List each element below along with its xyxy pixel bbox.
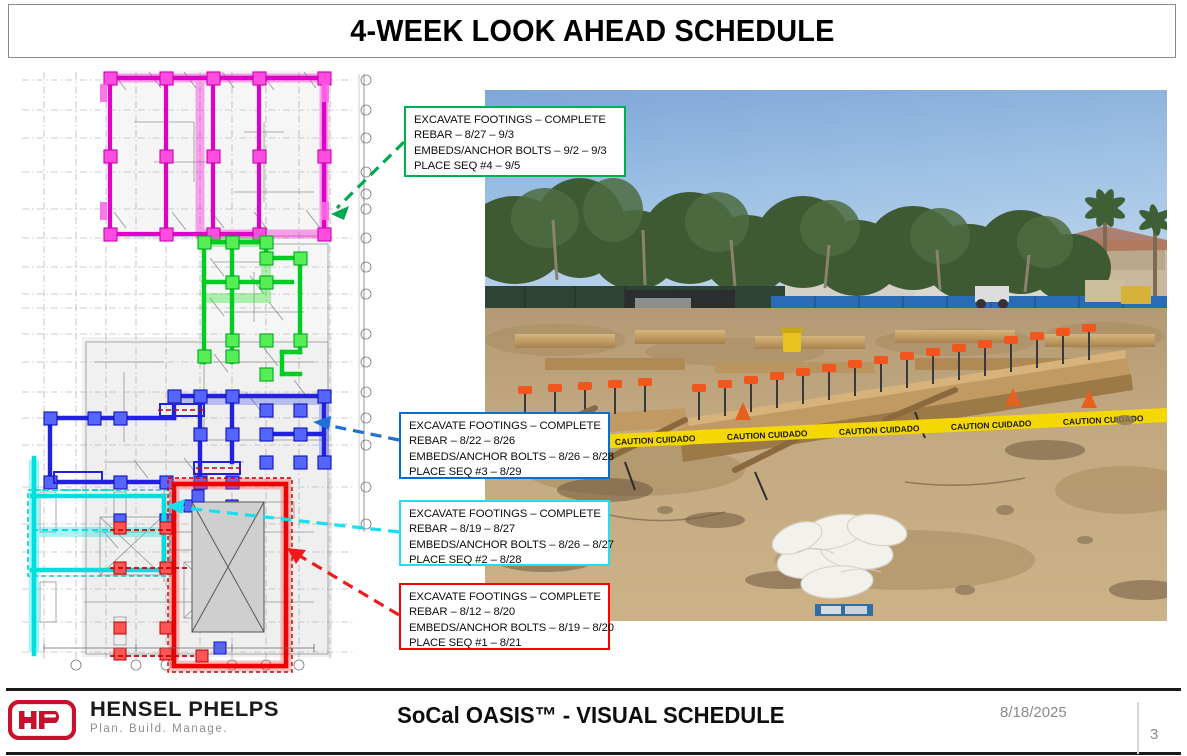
callout-line: EXCAVATE FOOTINGS – COMPLETE: [409, 590, 601, 605]
callout-line: EMBEDS/ANCHOR BOLTS – 8/26 – 8/28: [409, 450, 601, 465]
callout-line: EXCAVATE FOOTINGS – COMPLETE: [414, 113, 617, 128]
hp-monogram-icon: [8, 700, 76, 740]
logo-tagline: Plan. Build. Manage.: [90, 721, 275, 737]
callout-line: PLACE SEQ #3 – 8/29: [409, 465, 601, 480]
callout-line: PLACE SEQ #4 – 9/5: [414, 159, 617, 174]
callout-seq4-green[interactable]: EXCAVATE FOOTINGS – COMPLETE REBAR – 8/2…: [404, 106, 626, 177]
slide-canvas: 4-WEEK LOOK AHEAD SCHEDULE: [0, 0, 1187, 756]
floor-plan-drawing[interactable]: [14, 62, 414, 676]
logo-company-name: HENSEL PHELPS: [90, 697, 279, 721]
footer-project-title: SoCal OASIS™ - VISUAL SCHEDULE: [370, 702, 812, 729]
callout-seq1-red[interactable]: EXCAVATE FOOTINGS – COMPLETE REBAR – 8/1…: [399, 583, 610, 650]
hensel-phelps-logo[interactable]: HENSEL PHELPS Plan. Build. Manage.: [8, 697, 328, 745]
footer-top-rule: [6, 688, 1181, 691]
callout-line: REBAR – 8/22 – 8/26: [409, 434, 601, 449]
logo-wordmark: HENSEL PHELPS Plan. Build. Manage.: [90, 697, 275, 737]
footer-date: 8/18/2025: [1000, 704, 1067, 721]
callout-line: REBAR – 8/19 – 8/27: [409, 522, 601, 537]
callout-seq2-cyan[interactable]: EXCAVATE FOOTINGS – COMPLETE REBAR – 8/1…: [399, 500, 610, 566]
footer-divider: [1137, 702, 1139, 754]
callout-line: EMBEDS/ANCHOR BOLTS – 8/26 – 8/27: [409, 538, 601, 553]
footer-page-number: 3: [1150, 726, 1158, 743]
slide-title-box: 4-WEEK LOOK AHEAD SCHEDULE: [8, 4, 1176, 58]
callout-line: EXCAVATE FOOTINGS – COMPLETE: [409, 507, 601, 522]
page-title: 4-WEEK LOOK AHEAD SCHEDULE: [350, 13, 834, 49]
callout-line: REBAR – 8/27 – 9/3: [414, 128, 617, 143]
callout-line: PLACE SEQ #1 – 8/21: [409, 636, 601, 651]
callout-line: EMBEDS/ANCHOR BOLTS – 8/19 – 8/20: [409, 621, 601, 636]
callout-line: EMBEDS/ANCHOR BOLTS – 9/2 – 9/3: [414, 144, 617, 159]
callout-line: PLACE SEQ #2 – 8/28: [409, 553, 601, 568]
callout-line: REBAR – 8/12 – 8/20: [409, 605, 601, 620]
slide-footer: HENSEL PHELPS Plan. Build. Manage. SoCal…: [0, 688, 1187, 756]
callout-line: EXCAVATE FOOTINGS – COMPLETE: [409, 419, 601, 434]
callout-seq3-blue[interactable]: EXCAVATE FOOTINGS – COMPLETE REBAR – 8/2…: [399, 412, 610, 479]
footer-bottom-rule: [6, 752, 1181, 755]
